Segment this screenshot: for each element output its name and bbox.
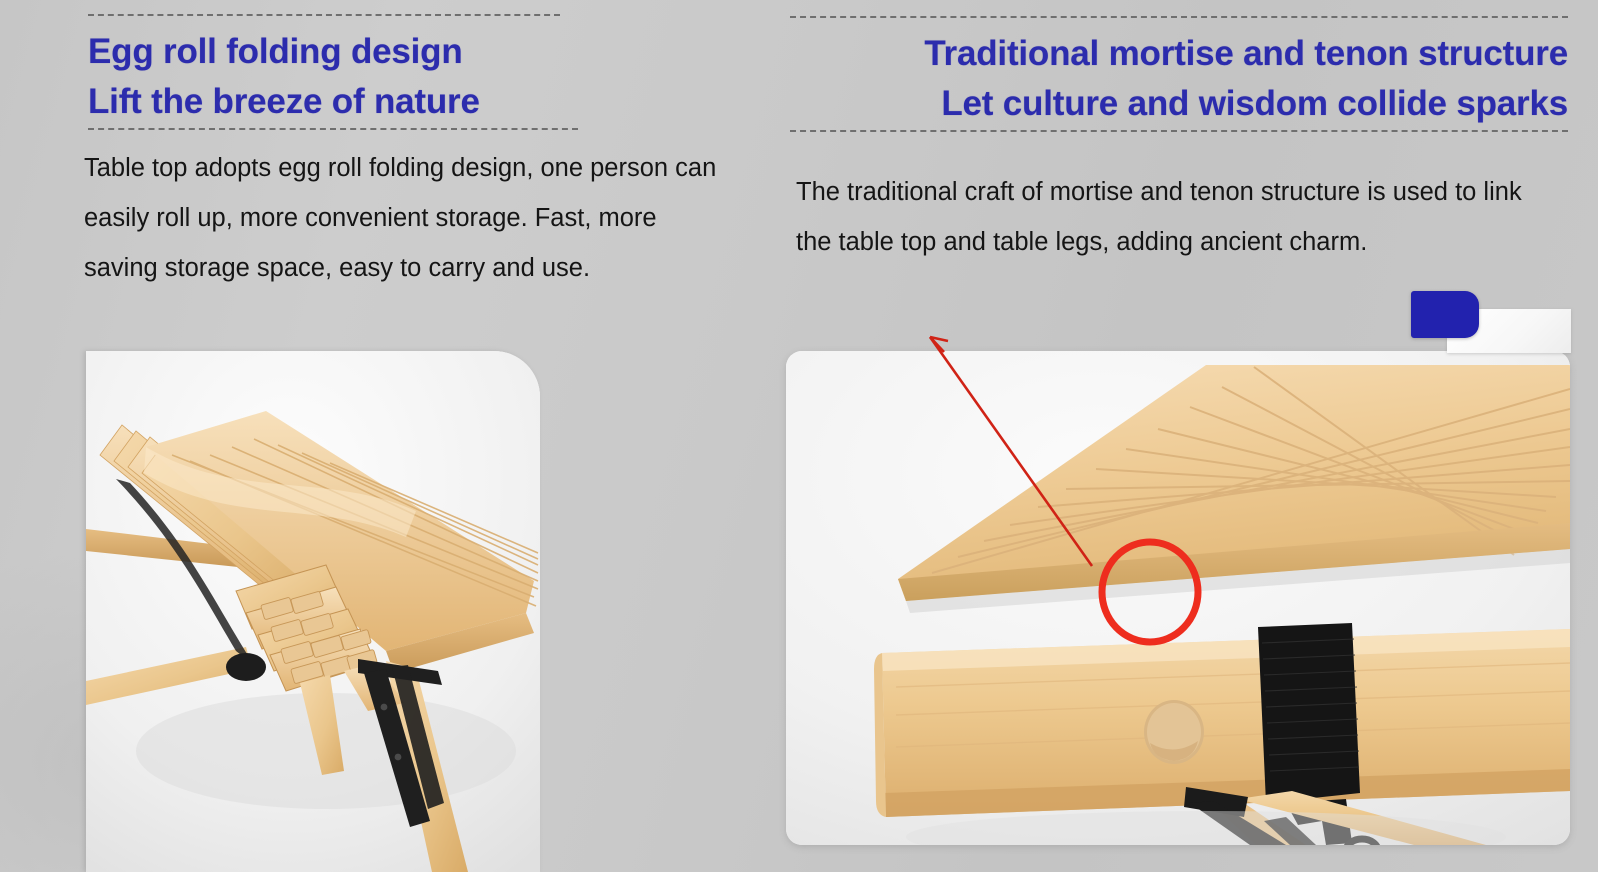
left-product-photo — [86, 351, 540, 872]
right-product-photo — [786, 351, 1570, 845]
right-panel-body-text: The traditional craft of mortise and ten… — [796, 167, 1556, 267]
blue-badge[interactable] — [1411, 291, 1479, 338]
divider-top-right — [790, 16, 1568, 18]
divider-bottom-right — [790, 130, 1568, 132]
product-feature-slide: Egg roll folding design Lift the breeze … — [0, 0, 1598, 872]
left-panel-body-text: Table top adopts egg roll folding design… — [84, 143, 734, 293]
right-panel-heading: Traditional mortise and tenon structure … — [790, 29, 1568, 128]
divider-bottom-left — [88, 128, 578, 130]
left-photo-illustration — [86, 351, 540, 872]
left-panel-heading: Egg roll folding design Lift the breeze … — [88, 27, 480, 126]
divider-top-left — [88, 14, 560, 16]
right-photo-illustration — [786, 351, 1570, 845]
